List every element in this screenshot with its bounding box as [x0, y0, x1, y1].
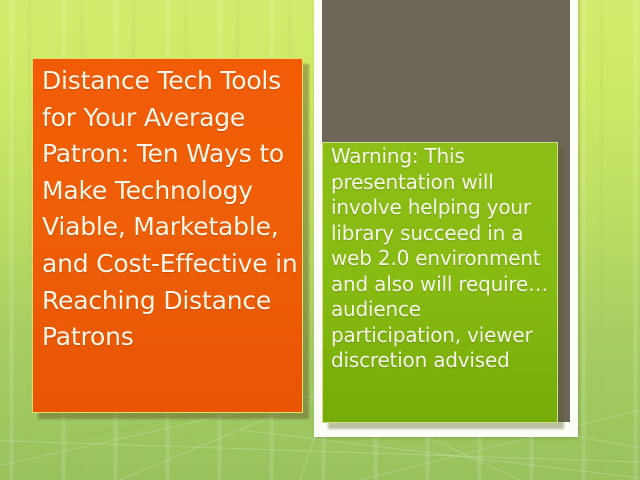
warning-box: Warning: This presentation will involve …	[322, 142, 558, 423]
slide-title: Distance Tech Tools for Your Average Pat…	[42, 63, 298, 356]
title-box: Distance Tech Tools for Your Average Pat…	[32, 58, 303, 413]
presentation-slide: Distance Tech Tools for Your Average Pat…	[0, 0, 640, 480]
warning-text: Warning: This presentation will involve …	[331, 144, 553, 374]
